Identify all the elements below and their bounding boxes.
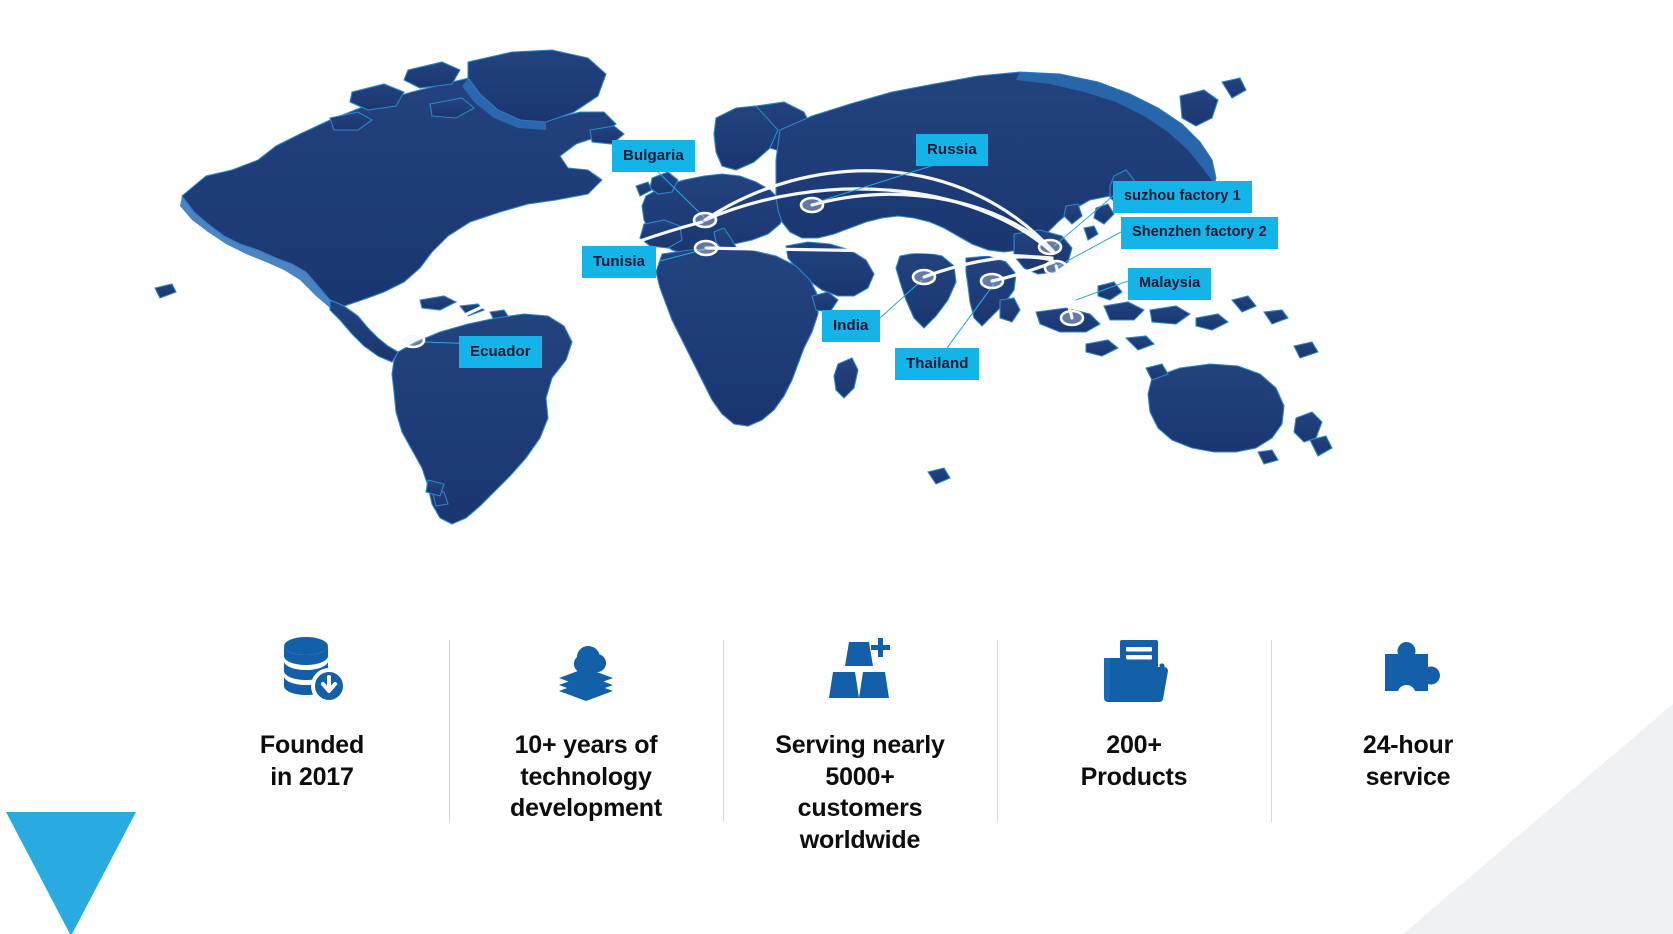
stat-label-customers: Serving nearly 5000+ customers worldwide bbox=[775, 730, 945, 856]
cloud-layers-icon bbox=[553, 632, 619, 710]
world-map-graphic bbox=[0, 0, 1673, 600]
stats-bar: Founded in 2017 10+ years of technology … bbox=[175, 632, 1545, 872]
map-label-thailand[interactable]: Thailand bbox=[895, 348, 979, 380]
stat-item-service[interactable]: 24-hour service bbox=[1271, 632, 1545, 793]
stat-item-products[interactable]: 200+ Products bbox=[997, 632, 1271, 793]
map-label-shenzhen-factory-2[interactable]: Shenzhen factory 2 bbox=[1121, 217, 1278, 249]
stacked-blocks-plus-icon bbox=[827, 632, 893, 710]
stat-item-founded[interactable]: Founded in 2017 bbox=[175, 632, 449, 793]
stat-label-service: 24-hour service bbox=[1363, 730, 1453, 793]
database-download-icon bbox=[276, 632, 348, 710]
stat-item-experience[interactable]: 10+ years of technology development bbox=[449, 632, 723, 825]
map-label-tunisia[interactable]: Tunisia bbox=[582, 246, 656, 278]
map-label-malaysia[interactable]: Malaysia bbox=[1128, 268, 1211, 300]
infographic-slide: Bulgaria Russia suzhou factory 1 Shenzhe… bbox=[0, 0, 1673, 934]
stat-item-customers[interactable]: Serving nearly 5000+ customers worldwide bbox=[723, 632, 997, 856]
map-label-bulgaria[interactable]: Bulgaria bbox=[612, 140, 695, 172]
triangle-accent-decoration bbox=[6, 812, 136, 934]
map-label-suzhou-factory-1[interactable]: suzhou factory 1 bbox=[1113, 181, 1252, 213]
puzzle-piece-icon bbox=[1375, 632, 1441, 710]
stat-label-products: 200+ Products bbox=[1081, 730, 1188, 793]
world-map-container: Bulgaria Russia suzhou factory 1 Shenzhe… bbox=[0, 0, 1673, 600]
stat-label-founded: Founded in 2017 bbox=[260, 730, 364, 793]
map-label-russia[interactable]: Russia bbox=[916, 134, 988, 166]
folder-document-icon bbox=[1098, 632, 1170, 710]
map-label-india[interactable]: India bbox=[822, 310, 880, 342]
map-label-ecuador[interactable]: Ecuador bbox=[459, 336, 542, 368]
stat-label-experience: 10+ years of technology development bbox=[510, 730, 662, 825]
